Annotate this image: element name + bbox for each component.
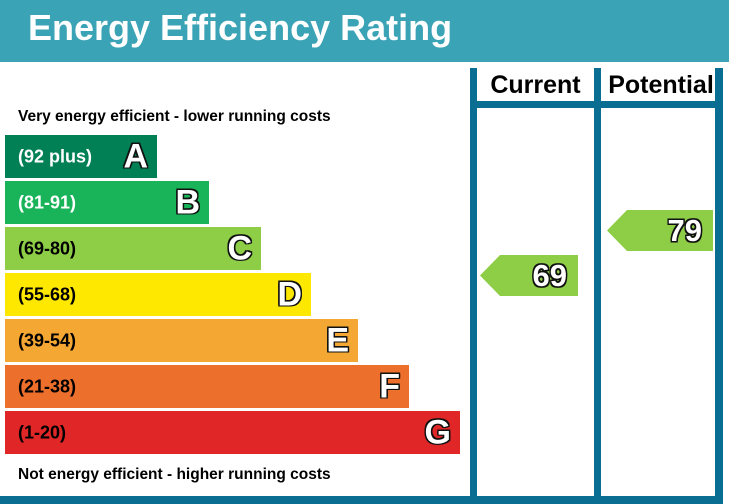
page-title: Energy Efficiency Rating [28, 7, 452, 49]
frame-bottom-border [0, 496, 723, 504]
band-range-label: (92 plus) [18, 146, 92, 167]
caption-not-efficient: Not energy efficient - higher running co… [18, 466, 331, 484]
title-bar: Energy Efficiency Rating [0, 0, 729, 62]
potential-rating-marker: 79 [607, 210, 713, 251]
potential-rating-value: 79 [668, 214, 702, 245]
rating-band-g: (1-20)G [5, 411, 460, 454]
rating-band-c: (69-80)C [5, 227, 261, 270]
band-letter-b: B [175, 185, 200, 219]
rating-band-f: (21-38)F [5, 365, 409, 408]
band-letter-a: A [123, 139, 148, 173]
band-range-label: (69-80) [18, 238, 76, 259]
band-letter-g: G [425, 415, 451, 449]
frame-right-border [715, 68, 723, 502]
band-letter-d: D [277, 277, 302, 311]
band-range-label: (1-20) [18, 422, 66, 443]
rating-band-d: (55-68)D [5, 273, 311, 316]
rating-band-b: (81-91)B [5, 181, 209, 224]
energy-efficiency-rating-chart: Energy Efficiency Rating Current Potenti… [0, 0, 729, 504]
band-range-label: (55-68) [18, 284, 76, 305]
caption-very-efficient: Very energy efficient - lower running co… [18, 108, 331, 126]
band-range-label: (81-91) [18, 192, 76, 213]
current-rating-marker: 69 [480, 255, 578, 296]
column-divider-current [470, 68, 477, 502]
rating-band-e: (39-54)E [5, 319, 358, 362]
rating-band-a: (92 plus)A [5, 135, 157, 178]
current-rating-value: 69 [533, 259, 567, 290]
column-header-current: Current [477, 71, 594, 101]
column-divider-potential [594, 68, 601, 502]
band-letter-e: E [326, 323, 349, 357]
column-underline-potential [594, 101, 723, 108]
column-header-potential: Potential [601, 71, 721, 101]
band-range-label: (39-54) [18, 330, 76, 351]
band-letter-c: C [227, 231, 252, 265]
column-underline-current [470, 101, 601, 108]
band-letter-f: F [379, 369, 400, 403]
band-range-label: (21-38) [18, 376, 76, 397]
